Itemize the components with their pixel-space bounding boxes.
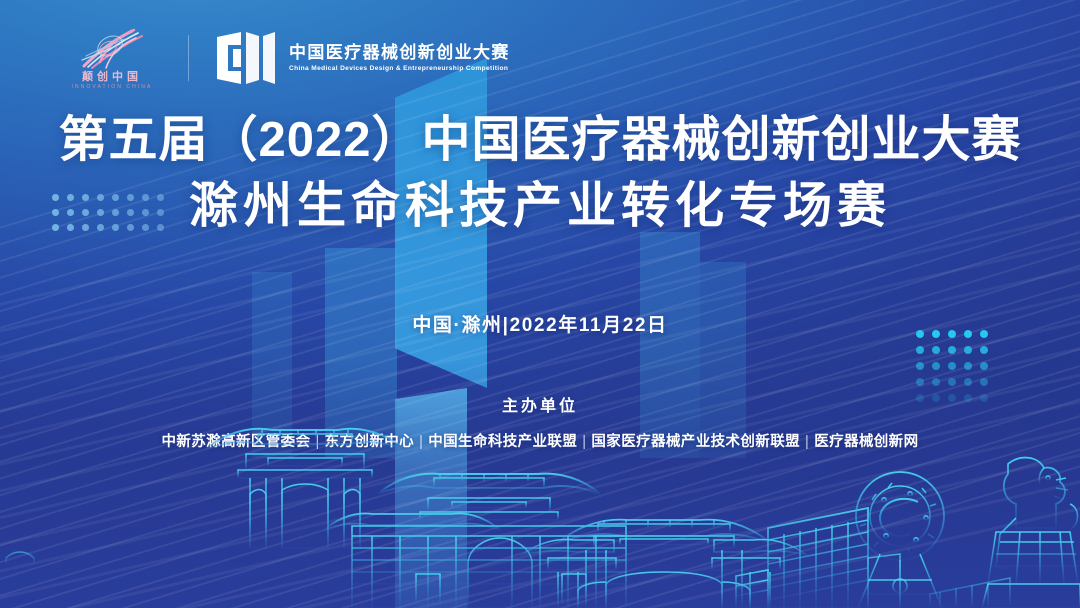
decor-dot	[964, 378, 972, 386]
paifang-archway-icon	[520, 520, 808, 608]
logo-innovation-china[interactable]: 颠创中国 INNOVATION CHINA	[62, 24, 162, 92]
decor-dot	[964, 362, 972, 370]
logo-innovation-caption: 颠创中国 INNOVATION CHINA	[62, 71, 162, 90]
logo-innovation-en: INNOVATION CHINA	[62, 84, 162, 91]
logo-competition[interactable]: 中国医疗器械创新创业大赛 China Medical Devices Desig…	[215, 31, 510, 85]
logo-competition-text: 中国医疗器械创新创业大赛 China Medical Devices Desig…	[289, 44, 510, 72]
logo-competition-cn: 中国医疗器械创新创业大赛	[289, 44, 510, 63]
open-door-mark-icon	[215, 31, 277, 85]
header-logos: 颠创中国 INNOVATION CHINA 中国医疗器械创新创业大赛 China…	[62, 24, 510, 92]
bird-dove-icon	[76, 26, 150, 70]
poster-canvas: 颠创中国 INNOVATION CHINA 中国医疗器械创新创业大赛 China…	[0, 0, 1080, 608]
decor-dot	[948, 362, 956, 370]
decor-dot	[948, 378, 956, 386]
title-line-2: 滁州生命科技产业转化专场赛	[0, 178, 1080, 236]
decor-dot	[980, 346, 988, 354]
skyline-illustration	[0, 408, 1080, 608]
decor-dot	[964, 346, 972, 354]
decor-dot	[932, 346, 940, 354]
title-line-1: 第五届（2022）中国医疗器械创新创业大赛	[0, 112, 1080, 170]
decor-dot	[980, 362, 988, 370]
event-location-date: 中国·滁州|2022年11月22日	[0, 310, 1080, 337]
decor-dot	[916, 362, 924, 370]
logo-innovation-cn: 颠创中国	[62, 71, 162, 83]
decor-dot	[932, 378, 940, 386]
circular-sculpture-icon	[856, 472, 944, 608]
title-block: 第五届（2022）中国医疗器械创新创业大赛 滁州生命科技产业转化专场赛	[0, 112, 1080, 236]
merlion-statue-icon	[982, 458, 1080, 608]
chinese-pavilion-icon	[205, 429, 405, 548]
distant-blocks-icon	[930, 578, 1010, 608]
logo-competition-en: China Medical Devices Design & Entrepren…	[289, 65, 510, 72]
decor-dot	[948, 346, 956, 354]
decor-dot	[932, 362, 940, 370]
decor-dot	[916, 346, 924, 354]
decor-dot	[980, 378, 988, 386]
street-lamp-icon	[6, 552, 34, 608]
logo-divider	[188, 35, 189, 81]
decor-dot	[916, 378, 924, 386]
